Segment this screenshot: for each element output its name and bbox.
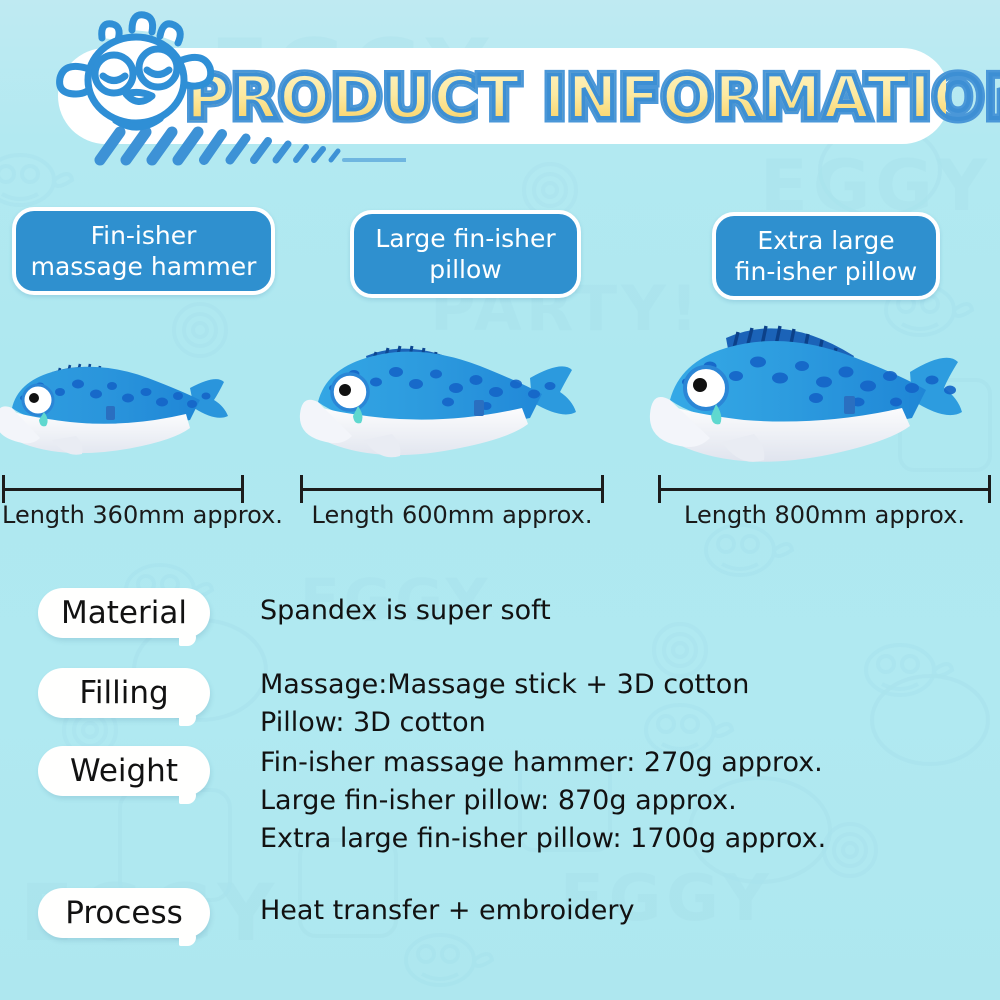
bracket-cap-right	[988, 475, 991, 503]
product-label-line2: fin-isher pillow	[735, 257, 917, 286]
product-label-line2: pillow	[429, 255, 501, 284]
header: PRODUCT INFORMATION PRODUCT INFORMATION	[0, 0, 1000, 176]
page-title: PRODUCT INFORMATION	[186, 60, 946, 136]
fin-isher-massage-hammer-plush-image	[0, 330, 262, 470]
spec-value-material: Spandex is super soft	[260, 592, 551, 630]
bracket-line	[658, 488, 991, 491]
spec-key-filling: Filling	[38, 668, 210, 718]
product-label-extra-large-fin-isher-pillow[interactable]: Extra large fin-isher pillow	[712, 212, 940, 300]
product-label-text: Fin-isher massage hammer	[31, 220, 257, 282]
spec-value-process: Heat transfer + embroidery	[260, 892, 634, 930]
product-label-line1: Large fin-isher	[375, 224, 555, 253]
spec-key-process: Process	[38, 888, 210, 938]
bracket-cap-right	[241, 475, 244, 503]
product-label-line1: Extra large	[757, 226, 894, 255]
product-label-text: Extra large fin-isher pillow	[735, 225, 917, 287]
product-label-line1: Fin-isher	[91, 221, 197, 250]
product-label-large-fin-isher-pillow[interactable]: Large fin-isher pillow	[350, 210, 581, 298]
product-label-fin-isher-massage-hammer[interactable]: Fin-isher massage hammer	[12, 207, 275, 295]
length-label-800mm: Length 800mm approx.	[658, 501, 991, 529]
spec-value-weight: Fin-isher massage hammer: 270g approx. L…	[260, 744, 826, 858]
pufferfish-mascot-icon	[50, 8, 220, 148]
bracket-line	[2, 488, 244, 491]
spec-key-material: Material	[38, 588, 210, 638]
large-fin-isher-pillow-plush-image	[298, 312, 612, 472]
bracket-line	[300, 488, 604, 491]
specifications-table: Material Spandex is super soft Filling M…	[0, 580, 1000, 950]
extra-large-fin-isher-pillow-plush-image	[648, 296, 1000, 480]
spec-value-filling: Massage:Massage stick + 3D cotton Pillow…	[260, 666, 749, 742]
spec-key-weight: Weight	[38, 746, 210, 796]
product-label-line2: massage hammer	[31, 252, 257, 281]
product-label-text: Large fin-isher pillow	[375, 223, 555, 285]
bracket-cap-right	[601, 475, 604, 503]
length-label-360mm: Length 360mm approx.	[2, 501, 244, 529]
length-label-600mm: Length 600mm approx.	[300, 501, 604, 529]
